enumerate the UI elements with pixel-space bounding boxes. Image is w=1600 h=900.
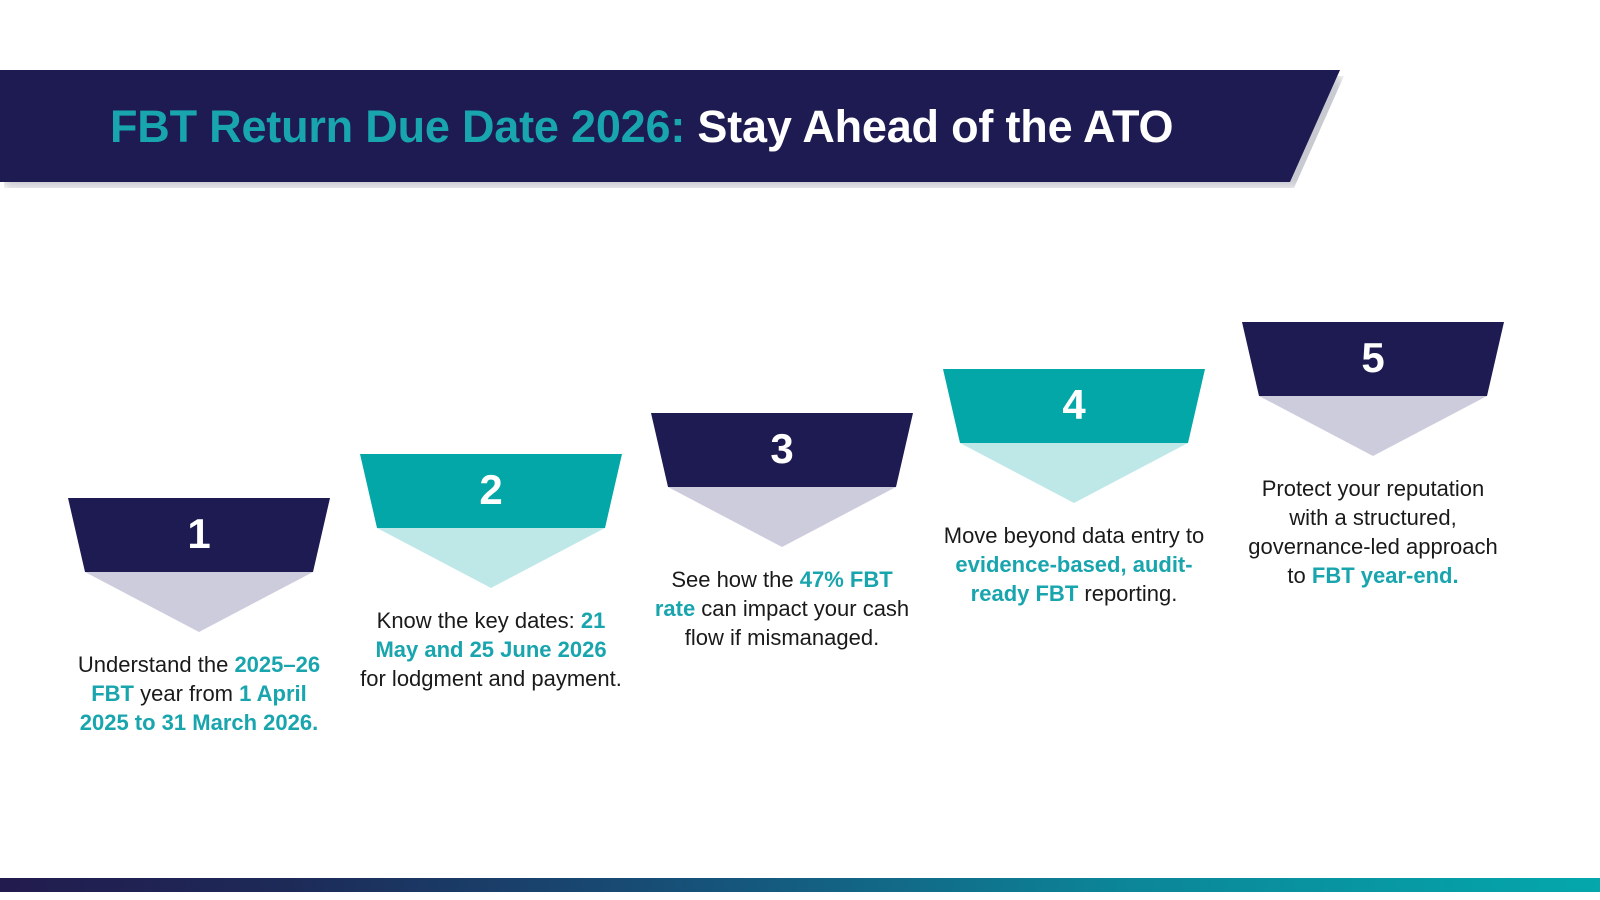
step-5-badge: 5 (1242, 322, 1504, 396)
step-5: 5Protect your reputation with a structur… (1242, 322, 1504, 590)
header-banner: FBT Return Due Date 2026: Stay Ahead of … (0, 70, 1340, 182)
step-4-arrow-icon (960, 443, 1188, 503)
step-4-badge: 4 (943, 369, 1205, 443)
step-4-description: Move beyond data entry to evidence-based… (943, 521, 1205, 608)
step-2-shape: 2 (360, 454, 622, 606)
page-title: FBT Return Due Date 2026: Stay Ahead of … (0, 104, 1173, 149)
step-3-shape: 3 (651, 413, 913, 565)
page-title-accent: FBT Return Due Date 2026: (110, 101, 685, 152)
step-4-shape: 4 (943, 369, 1205, 521)
step-4: 4Move beyond data entry to evidence-base… (943, 369, 1205, 608)
step-1: 1Understand the 2025–26 FBT year from 1 … (68, 498, 330, 737)
footer-gradient-bar (0, 878, 1600, 892)
step-1-number: 1 (187, 513, 210, 555)
step-1-description: Understand the 2025–26 FBT year from 1 A… (68, 650, 330, 737)
step-2-badge: 2 (360, 454, 622, 528)
step-2: 2Know the key dates: 21 May and 25 June … (360, 454, 622, 693)
step-3-number: 3 (770, 428, 793, 470)
step-4-number: 4 (1062, 384, 1085, 426)
step-5-number: 5 (1361, 337, 1384, 379)
step-1-arrow-icon (85, 572, 313, 632)
step-1-badge: 1 (68, 498, 330, 572)
step-1-shape: 1 (68, 498, 330, 650)
step-3-arrow-icon (668, 487, 896, 547)
step-3-description: See how the 47% FBT rate can impact your… (651, 565, 913, 652)
step-3: 3See how the 47% FBT rate can impact you… (651, 413, 913, 652)
step-5-shape: 5 (1242, 322, 1504, 474)
step-5-description: Protect your reputation with a structure… (1242, 474, 1504, 590)
step-2-number: 2 (479, 469, 502, 511)
step-5-arrow-icon (1259, 396, 1487, 456)
step-2-arrow-icon (377, 528, 605, 588)
step-2-description: Know the key dates: 21 May and 25 June 2… (360, 606, 622, 693)
page-title-main: Stay Ahead of the ATO (685, 101, 1173, 152)
step-3-badge: 3 (651, 413, 913, 487)
